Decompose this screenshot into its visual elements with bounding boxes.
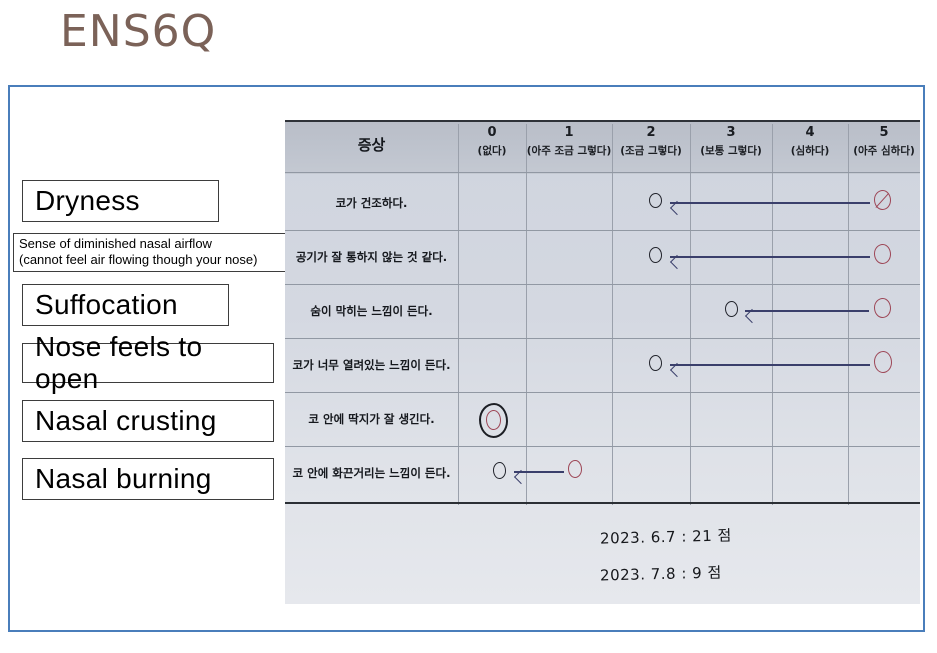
change-arrow — [670, 202, 870, 204]
table-bottom-border — [285, 502, 920, 504]
header-scale-4: 4 (심하다) — [772, 120, 848, 172]
annotation-nose-open-label: Nose feels to open — [35, 331, 273, 395]
answer-mark-after — [649, 247, 662, 263]
row-divider — [285, 446, 920, 447]
annotation-airflow-note: Sense of diminished nasal airflow (canno… — [13, 233, 305, 272]
header-scale-5-label: (아주 심하다) — [848, 143, 920, 158]
header-scale-5-number: 5 — [848, 125, 920, 140]
annotation-nasal-burning-label: Nasal burning — [35, 463, 212, 495]
row-divider — [285, 172, 920, 173]
answer-mark-before — [874, 351, 892, 373]
answer-mark-after — [493, 462, 506, 479]
row-divider — [285, 230, 920, 231]
header-scale-0-number: 0 — [458, 125, 526, 140]
header-scale-1-label: (아주 조금 그렇다) — [526, 143, 612, 158]
annotation-nose-open: Nose feels to open — [22, 343, 274, 383]
answer-mark-before — [874, 244, 891, 264]
header-scale-4-label: (심하다) — [772, 143, 848, 158]
annotation-nasal-crusting: Nasal crusting — [22, 400, 274, 442]
answer-mark-before — [568, 460, 582, 478]
answer-mark-after — [649, 355, 662, 371]
header-scale-3-label: (보통 그렇다) — [690, 143, 772, 158]
answer-mark-after — [649, 193, 662, 208]
annotation-airflow-line2: (cannot feel air flowing though your nos… — [19, 252, 299, 268]
annotation-nasal-burning: Nasal burning — [22, 458, 274, 500]
header-scale-2-number: 2 — [612, 125, 690, 140]
content-frame: Dryness Sense of diminished nasal airflo… — [8, 85, 925, 632]
questionnaire-photo: 증상 0 (없다) 1 (아주 조금 그렇다) 2 (조금 그렇다) 3 (보통… — [285, 120, 920, 604]
answer-mark-before — [874, 298, 891, 318]
annotation-dryness-label: Dryness — [35, 185, 140, 217]
annotation-suffocation: Suffocation — [22, 284, 229, 326]
table-row: 코가 건조하다. — [285, 195, 458, 211]
annotation-suffocation-label: Suffocation — [35, 289, 178, 321]
answer-mark-before — [486, 410, 501, 430]
header-symptom: 증상 — [285, 134, 458, 155]
column-divider — [612, 124, 613, 505]
table-row: 코 안에 딱지가 잘 생긴다. — [285, 411, 458, 427]
row-divider — [285, 284, 920, 285]
header-scale-1-number: 1 — [526, 125, 612, 140]
column-divider — [848, 124, 849, 505]
table-row: 코 안에 화끈거리는 느낌이 든다. — [285, 465, 458, 481]
header-scale-4-number: 4 — [772, 125, 848, 140]
handwritten-note-2: 2023. 7.8 : 9 점 — [600, 562, 722, 586]
change-arrow — [670, 256, 870, 258]
answer-mark-after — [725, 301, 738, 317]
table-row: 공기가 잘 통하지 않는 것 같다. — [285, 249, 458, 265]
annotation-dryness: Dryness — [22, 180, 219, 222]
table-row: 코가 너무 열려있는 느낌이 든다. — [285, 357, 458, 373]
row-divider — [285, 338, 920, 339]
annotation-airflow-line1: Sense of diminished nasal airflow — [19, 236, 299, 252]
header-scale-2: 2 (조금 그렇다) — [612, 120, 690, 172]
questionnaire-table: 증상 0 (없다) 1 (아주 조금 그렇다) 2 (조금 그렇다) 3 (보통… — [285, 120, 920, 505]
change-arrow — [745, 310, 869, 312]
header-scale-3: 3 (보통 그렇다) — [690, 120, 772, 172]
handwritten-note-1: 2023. 6.7 : 21 점 — [600, 524, 732, 548]
header-scale-2-label: (조금 그렇다) — [612, 143, 690, 158]
column-divider — [458, 124, 459, 505]
table-row: 숨이 막히는 느낌이 든다. — [285, 303, 458, 319]
row-divider — [285, 392, 920, 393]
header-scale-0: 0 (없다) — [458, 120, 526, 172]
paper-sheet: 증상 0 (없다) 1 (아주 조금 그렇다) 2 (조금 그렇다) 3 (보통… — [285, 120, 920, 604]
column-divider — [772, 124, 773, 505]
column-divider — [526, 124, 527, 505]
header-scale-0-label: (없다) — [458, 143, 526, 158]
change-arrow — [514, 471, 564, 473]
change-arrow — [670, 364, 870, 366]
header-scale-3-number: 3 — [690, 125, 772, 140]
page-title: ENS6Q — [60, 6, 216, 57]
column-divider — [690, 124, 691, 505]
header-scale-1: 1 (아주 조금 그렇다) — [526, 120, 612, 172]
annotation-nasal-crusting-label: Nasal crusting — [35, 405, 217, 437]
header-scale-5: 5 (아주 심하다) — [848, 120, 920, 172]
